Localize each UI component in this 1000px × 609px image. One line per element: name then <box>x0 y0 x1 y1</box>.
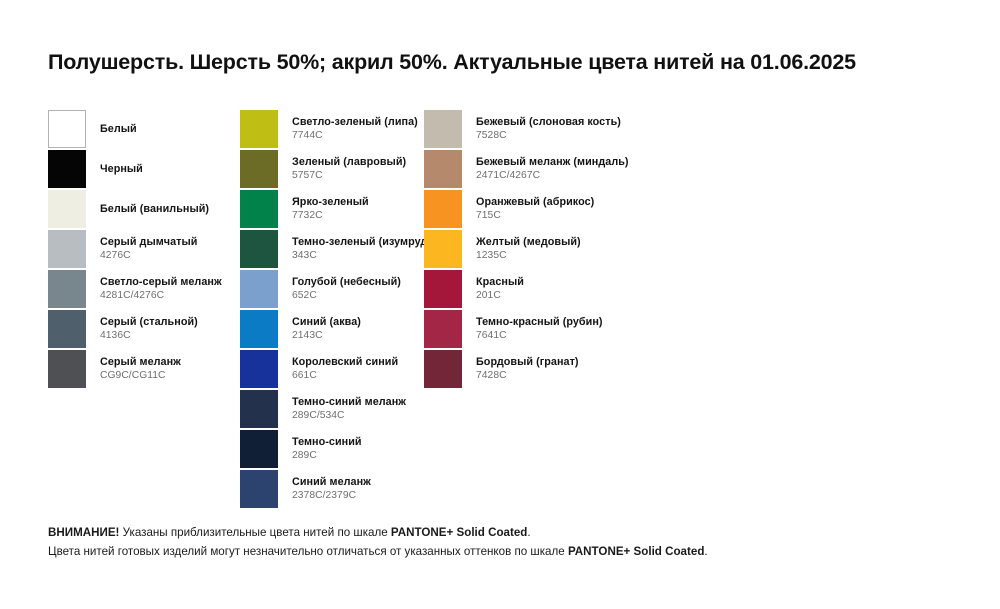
color-name: Красный <box>476 276 524 289</box>
color-labels: Темно-зеленый (изумруд)343C <box>292 230 431 268</box>
color-row: Оранжевый (абрикос)715C <box>424 190 654 230</box>
color-row: Темно-зеленый (изумруд)343C <box>240 230 430 270</box>
swatch-column-2: Светло-зеленый (липа)7744CЗеленый (лавро… <box>240 110 430 510</box>
color-swatch <box>240 110 278 148</box>
color-name: Темно-красный (рубин) <box>476 316 603 329</box>
color-labels: Желтый (медовый)1235C <box>476 230 581 268</box>
pantone-code: 343C <box>292 250 431 262</box>
color-row: Синий (аква)2143C <box>240 310 430 350</box>
color-swatch <box>240 150 278 188</box>
color-swatch <box>240 230 278 268</box>
color-row: Черный <box>48 150 238 190</box>
color-row: Темно-синий меланж289C/534C <box>240 390 430 430</box>
color-swatch <box>424 310 462 348</box>
color-swatch <box>424 270 462 308</box>
color-name: Синий (аква) <box>292 316 361 329</box>
pantone-brand-2: PANTONE+ Solid Coated <box>568 545 704 558</box>
color-swatch <box>424 150 462 188</box>
color-swatch <box>48 190 86 228</box>
color-name: Голубой (небесный) <box>292 276 401 289</box>
color-name: Зеленый (лавровый) <box>292 156 406 169</box>
color-chart-page: Полушерсть. Шерсть 50%; акрил 50%. Актуа… <box>0 0 1000 609</box>
color-labels: Ярко-зеленый7732C <box>292 190 369 228</box>
disclaimer-line-2: Цвета нитей готовых изделий могут незнач… <box>48 543 948 562</box>
color-name: Серый меланж <box>100 356 181 369</box>
color-name: Светло-серый меланж <box>100 276 222 289</box>
color-swatch <box>48 230 86 268</box>
color-name: Серый (стальной) <box>100 316 198 329</box>
color-row: Серый (стальной)4136C <box>48 310 238 350</box>
pantone-code: 201C <box>476 290 524 302</box>
color-row: Желтый (медовый)1235C <box>424 230 654 270</box>
pantone-code: 289C/534C <box>292 410 406 422</box>
color-name: Ярко-зеленый <box>292 196 369 209</box>
pantone-code: 2378C/2379C <box>292 490 371 502</box>
color-labels: Зеленый (лавровый)5757C <box>292 150 406 188</box>
pantone-code: 7428C <box>476 370 579 382</box>
color-name: Темно-зеленый (изумруд) <box>292 236 431 249</box>
color-row: Белый (ванильный) <box>48 190 238 230</box>
color-name: Темно-синий <box>292 436 362 449</box>
color-swatch <box>240 270 278 308</box>
color-row: Темно-синий289C <box>240 430 430 470</box>
color-name: Синий меланж <box>292 476 371 489</box>
color-row: Красный201C <box>424 270 654 310</box>
warning-label: ВНИМАНИЕ! <box>48 526 119 539</box>
swatch-column-3: Бежевый (слоновая кость)7528CБежевый мел… <box>424 110 654 390</box>
pantone-code: 652C <box>292 290 401 302</box>
pantone-code: 5757C <box>292 170 406 182</box>
color-name: Белый <box>100 123 137 136</box>
color-labels: Бежевый (слоновая кость)7528C <box>476 110 621 148</box>
color-row: Бежевый меланж (миндаль)2471C/4267C <box>424 150 654 190</box>
color-name: Королевский синий <box>292 356 398 369</box>
color-row: Белый <box>48 110 238 150</box>
color-swatch <box>48 150 86 188</box>
color-labels: Синий (аква)2143C <box>292 310 361 348</box>
color-swatch <box>424 190 462 228</box>
color-labels: Серый (стальной)4136C <box>100 310 198 348</box>
color-row: Королевский синий661C <box>240 350 430 390</box>
color-labels: Светло-зеленый (липа)7744C <box>292 110 418 148</box>
color-swatch <box>48 310 86 348</box>
color-row: Светло-серый меланж4281C/4276C <box>48 270 238 310</box>
disclaimer: ВНИМАНИЕ! Указаны приблизительные цвета … <box>48 524 948 562</box>
swatch-column-1: БелыйЧерныйБелый (ванильный)Серый дымчат… <box>48 110 238 390</box>
color-row: Ярко-зеленый7732C <box>240 190 430 230</box>
color-row: Темно-красный (рубин)7641C <box>424 310 654 350</box>
color-name: Бежевый меланж (миндаль) <box>476 156 629 169</box>
color-labels: Темно-синий289C <box>292 430 362 468</box>
color-swatch <box>240 350 278 388</box>
color-swatch <box>240 190 278 228</box>
color-labels: Белый <box>100 110 137 148</box>
color-labels: Синий меланж2378C/2379C <box>292 470 371 508</box>
color-swatch <box>48 270 86 308</box>
color-row: Светло-зеленый (липа)7744C <box>240 110 430 150</box>
color-swatch <box>48 110 86 148</box>
color-name: Черный <box>100 163 143 176</box>
color-name: Оранжевый (абрикос) <box>476 196 594 209</box>
color-name: Бордовый (гранат) <box>476 356 579 369</box>
color-name: Серый дымчатый <box>100 236 197 249</box>
color-name: Светло-зеленый (липа) <box>292 116 418 129</box>
color-labels: Красный201C <box>476 270 524 308</box>
color-row: Бежевый (слоновая кость)7528C <box>424 110 654 150</box>
pantone-code: 1235C <box>476 250 581 262</box>
pantone-code: 4281C/4276C <box>100 290 222 302</box>
color-name: Белый (ванильный) <box>100 203 209 216</box>
pantone-code: 4136C <box>100 330 198 342</box>
color-row: Зеленый (лавровый)5757C <box>240 150 430 190</box>
pantone-code: 2471C/4267C <box>476 170 629 182</box>
color-name: Темно-синий меланж <box>292 396 406 409</box>
color-swatch <box>424 110 462 148</box>
color-row: Синий меланж2378C/2379C <box>240 470 430 510</box>
color-labels: Белый (ванильный) <box>100 190 209 228</box>
color-labels: Черный <box>100 150 143 188</box>
color-labels: Серый меланжCG9C/CG11C <box>100 350 181 388</box>
pantone-code: 7528C <box>476 130 621 142</box>
color-labels: Темно-синий меланж289C/534C <box>292 390 406 428</box>
pantone-code: 4276C <box>100 250 197 262</box>
disclaimer-line-1-end: . <box>527 526 530 539</box>
color-swatch <box>240 310 278 348</box>
pantone-brand-1: PANTONE+ Solid Coated <box>391 526 527 539</box>
color-name: Желтый (медовый) <box>476 236 581 249</box>
color-row: Голубой (небесный)652C <box>240 270 430 310</box>
pantone-code: 7744C <box>292 130 418 142</box>
color-swatch <box>240 430 278 468</box>
color-labels: Светло-серый меланж4281C/4276C <box>100 270 222 308</box>
pantone-code: 2143C <box>292 330 361 342</box>
disclaimer-line-1: ВНИМАНИЕ! Указаны приблизительные цвета … <box>48 524 948 543</box>
disclaimer-line-2-text: Цвета нитей готовых изделий могут незнач… <box>48 545 568 558</box>
color-row: Бордовый (гранат)7428C <box>424 350 654 390</box>
color-swatch <box>424 230 462 268</box>
color-labels: Бордовый (гранат)7428C <box>476 350 579 388</box>
color-row: Серый дымчатый4276C <box>48 230 238 270</box>
color-row: Серый меланжCG9C/CG11C <box>48 350 238 390</box>
color-labels: Серый дымчатый4276C <box>100 230 197 268</box>
color-labels: Голубой (небесный)652C <box>292 270 401 308</box>
color-swatch <box>48 350 86 388</box>
color-name: Бежевый (слоновая кость) <box>476 116 621 129</box>
disclaimer-line-2-end: . <box>704 545 707 558</box>
disclaimer-line-1-text: Указаны приблизительные цвета нитей по ш… <box>119 526 390 539</box>
pantone-code: 7641C <box>476 330 603 342</box>
color-labels: Бежевый меланж (миндаль)2471C/4267C <box>476 150 629 188</box>
pantone-code: 7732C <box>292 210 369 222</box>
color-labels: Оранжевый (абрикос)715C <box>476 190 594 228</box>
color-labels: Темно-красный (рубин)7641C <box>476 310 603 348</box>
page-title: Полушерсть. Шерсть 50%; акрил 50%. Актуа… <box>48 50 856 75</box>
pantone-code: CG9C/CG11C <box>100 370 181 382</box>
color-swatch <box>240 470 278 508</box>
color-labels: Королевский синий661C <box>292 350 398 388</box>
color-swatch <box>240 390 278 428</box>
pantone-code: 715C <box>476 210 594 222</box>
pantone-code: 661C <box>292 370 398 382</box>
color-swatch <box>424 350 462 388</box>
pantone-code: 289C <box>292 450 362 462</box>
